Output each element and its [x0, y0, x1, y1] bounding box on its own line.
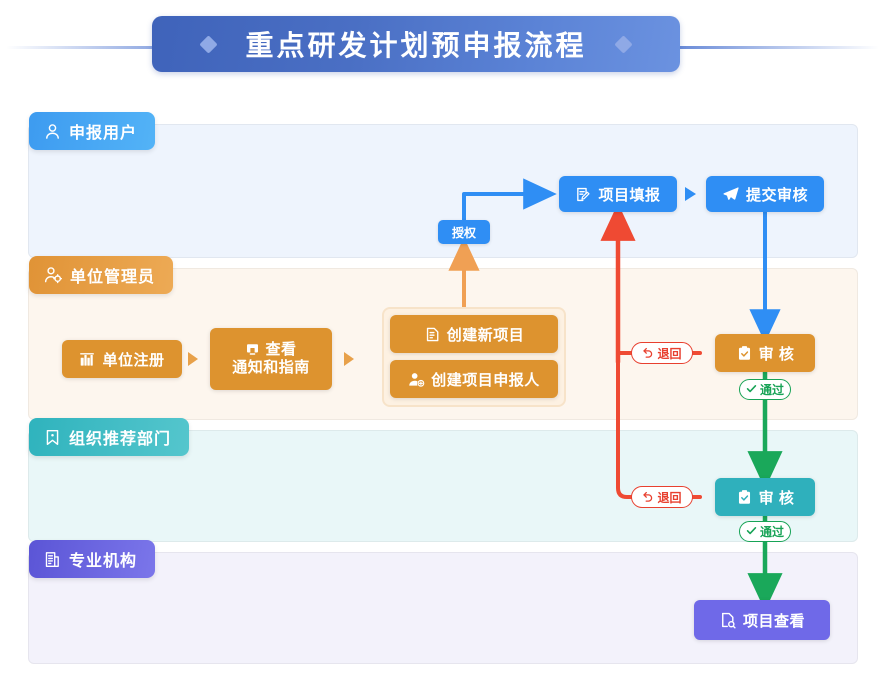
undo-icon [642, 490, 654, 505]
form-edit-icon [575, 186, 592, 203]
edge-authorize-to-project-fill [464, 194, 540, 220]
node-label: 提交审核 [746, 184, 808, 205]
node-label: 项目填报 [598, 184, 660, 205]
notice-icon [245, 342, 260, 357]
node-label-line2: 通知和指南 [232, 359, 310, 377]
badge-label: 通过 [760, 381, 784, 398]
node-label: 单位注册 [102, 349, 164, 370]
node-label: 项目查看 [743, 610, 805, 631]
node-label: 审 核 [759, 343, 795, 364]
badge-return-department: 退回 [631, 486, 693, 508]
add-user-icon [408, 371, 425, 388]
badge-pass-department: 通过 [739, 521, 791, 542]
node-label-line1: 查看 [265, 341, 296, 359]
arrow-project-fill-to-submit-review [685, 187, 696, 201]
node-create-applicant[interactable]: 创建项目申报人 [390, 360, 558, 398]
node-review-unit[interactable]: 审 核 [715, 334, 815, 372]
node-view-notice[interactable]: 查看 通知和指南 [210, 328, 332, 390]
badge-label: 退回 [657, 489, 681, 506]
badge-authorize: 授权 [438, 220, 490, 244]
undo-icon [642, 346, 654, 361]
node-unit-register[interactable]: 单位注册 [62, 340, 182, 378]
node-label: 创建项目申报人 [431, 369, 540, 390]
document-search-icon [719, 611, 737, 629]
badge-pass-unit: 通过 [739, 379, 791, 400]
node-review-department[interactable]: 审 核 [715, 478, 815, 516]
building-register-icon [79, 351, 96, 368]
badge-return-unit: 退回 [631, 342, 693, 364]
paper-plane-icon [722, 185, 740, 203]
clipboard-check-icon [736, 489, 753, 506]
arrow-view-notice-to-create-group [344, 352, 354, 366]
node-label: 审 核 [759, 487, 795, 508]
clipboard-check-icon [736, 345, 753, 362]
badge-label: 退回 [657, 345, 681, 362]
node-submit-review[interactable]: 提交审核 [706, 176, 824, 212]
node-project-fill[interactable]: 项目填报 [559, 176, 677, 212]
badge-label: 通过 [760, 523, 784, 540]
new-document-icon [424, 326, 441, 343]
check-icon [746, 383, 757, 397]
node-label: 创建新项目 [447, 324, 525, 345]
node-project-view[interactable]: 项目查看 [694, 600, 830, 640]
badge-label: 授权 [452, 224, 476, 241]
edge-review-department-return-to-project-fill [618, 362, 700, 497]
check-icon [746, 525, 757, 539]
flowchart-canvas: 重点研发计划预申报流程 [0, 0, 885, 685]
arrow-unit-register-to-view-notice [188, 352, 198, 366]
node-create-project[interactable]: 创建新项目 [390, 315, 558, 353]
